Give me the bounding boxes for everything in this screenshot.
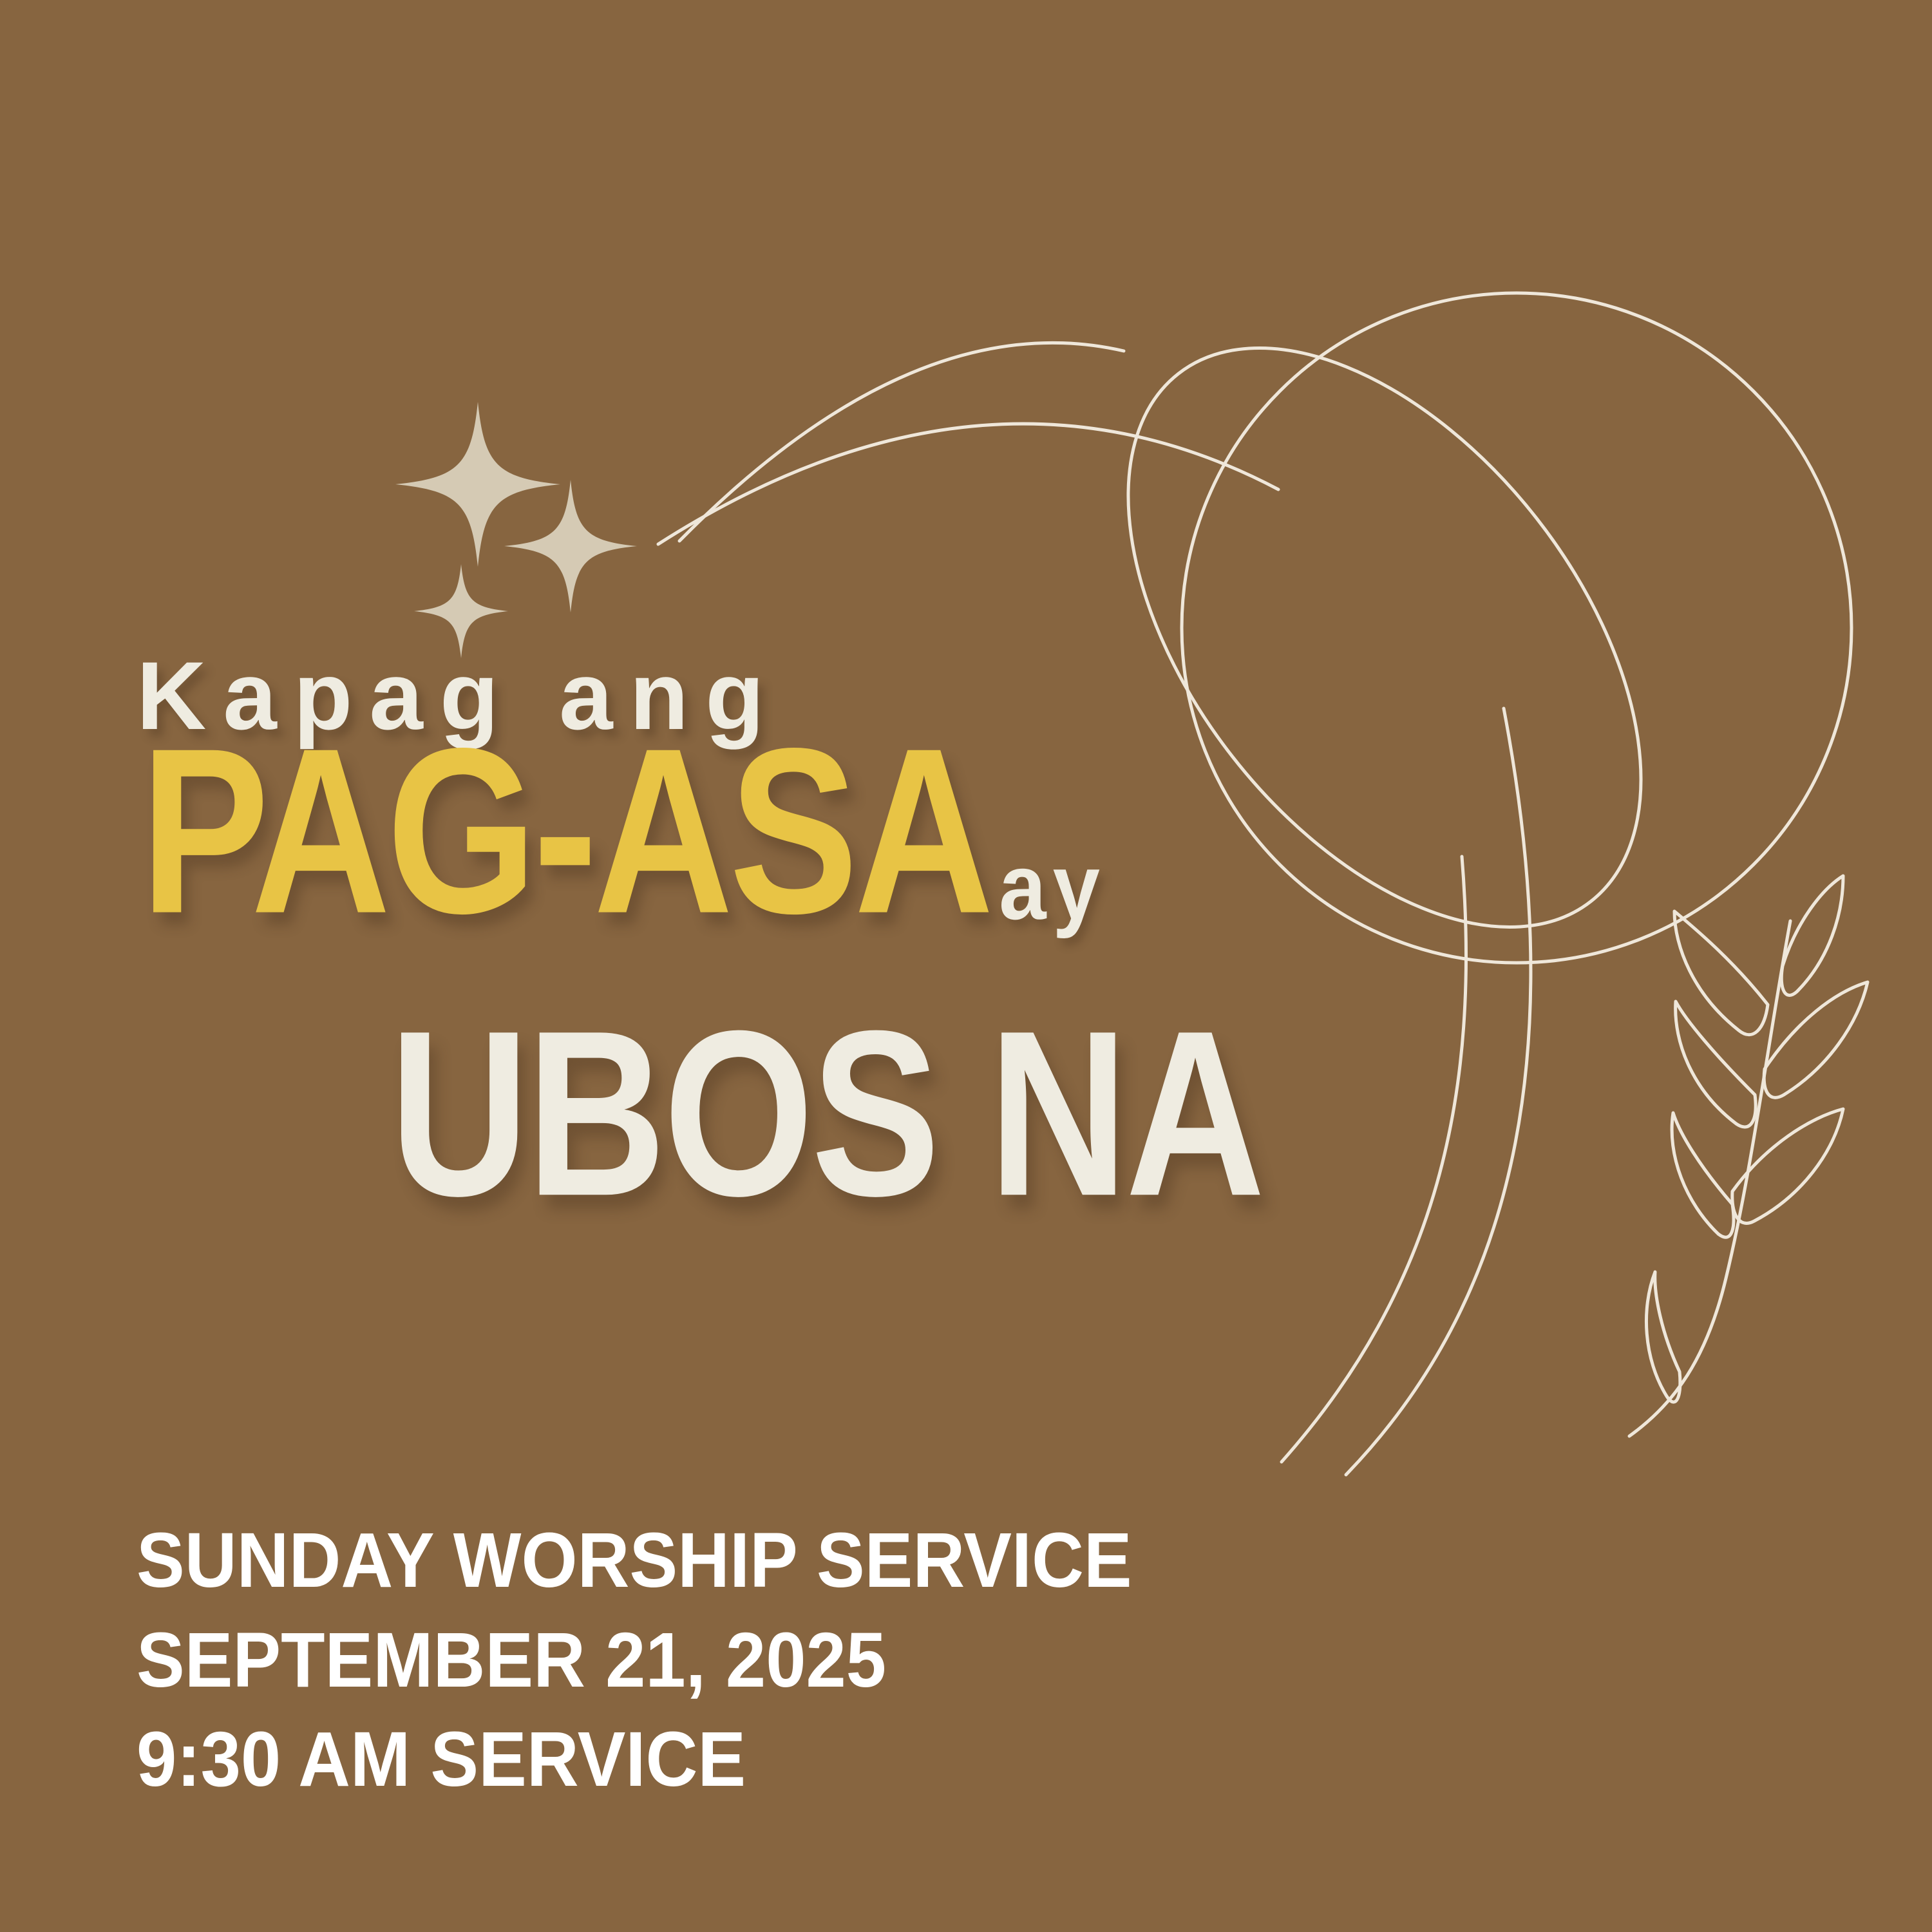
poster-canvas: Kapag ang PAG-ASA ay UBOS NA SUNDAY WORS… bbox=[0, 0, 1932, 1932]
headline-line-ubos-na: UBOS NA bbox=[390, 1005, 1262, 1222]
service-time: 9:30 AM SERVICE bbox=[137, 1706, 1132, 1814]
service-details-block: SUNDAY WORSHIP SERVICE SEPTEMBER 21, 202… bbox=[137, 1507, 1132, 1806]
headline-word-ay: ay bbox=[999, 840, 1106, 934]
headline-line-pagasa-ay: PAG-ASA ay bbox=[140, 761, 1106, 939]
service-date: SEPTEMBER 21, 2025 bbox=[137, 1607, 1132, 1714]
service-title: SUNDAY WORSHIP SERVICE bbox=[137, 1507, 1132, 1615]
headline-word-pagasa: PAG-ASA bbox=[140, 722, 990, 939]
